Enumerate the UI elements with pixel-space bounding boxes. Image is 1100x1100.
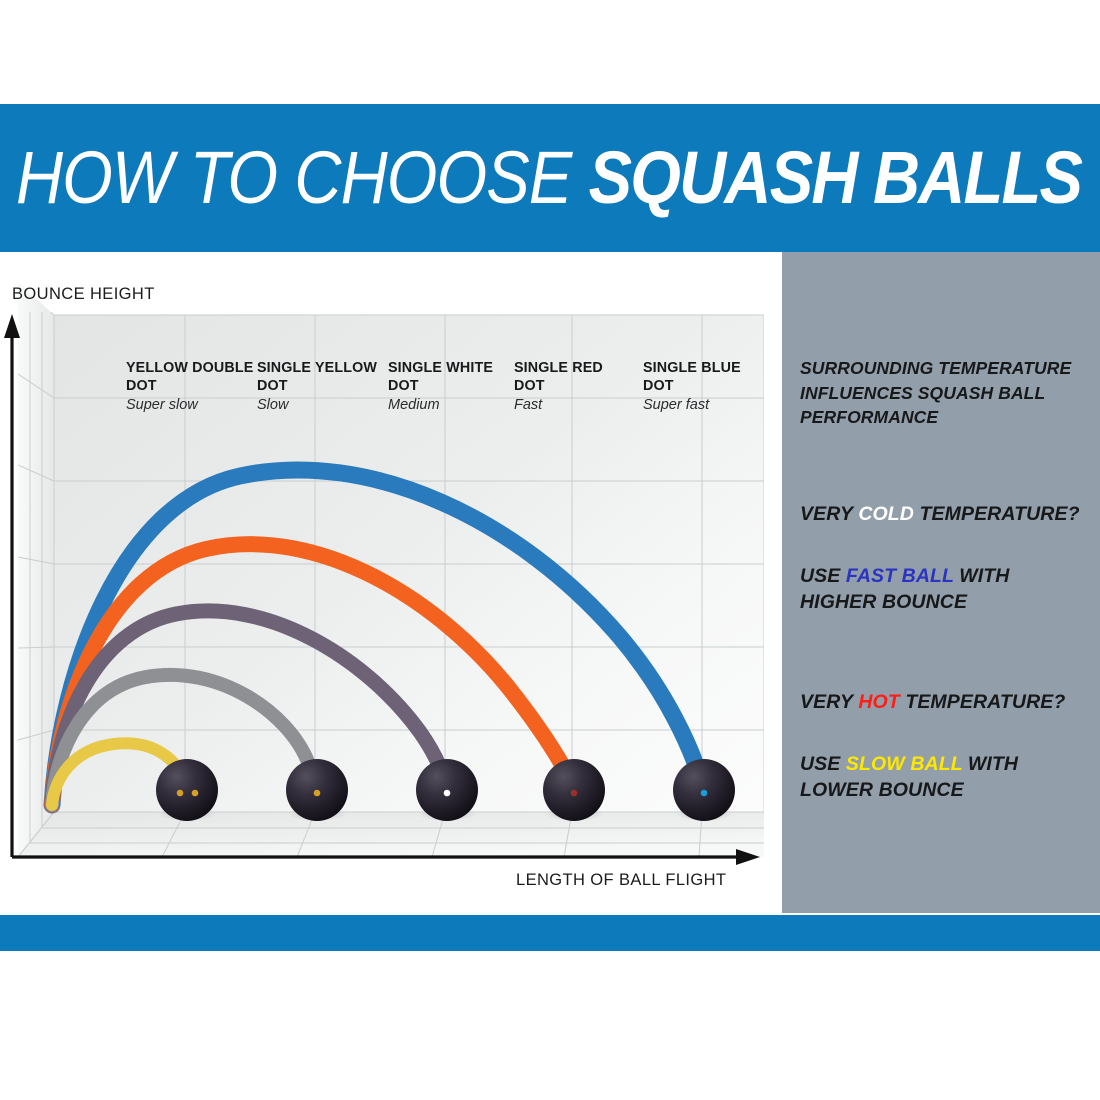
- intro-line-1: SURROUNDING TEMPERATURE: [800, 356, 1092, 381]
- side-panel: SURROUNDING TEMPERATURE INFLUENCES SQUAS…: [782, 252, 1100, 913]
- side-panel-intro: SURROUNDING TEMPERATURE INFLUENCES SQUAS…: [800, 356, 1092, 430]
- cold-a-pre: USE: [800, 565, 846, 587]
- cold-a-line2: HIGHER BOUNCE: [800, 589, 1092, 615]
- hot-q-pre: VERY: [800, 691, 858, 713]
- column-speed: Super slow: [126, 396, 254, 415]
- ball-single-white-dot: [416, 759, 478, 821]
- cold-keyword: COLD: [858, 503, 914, 525]
- column-speed: Medium: [388, 396, 516, 415]
- column-speed: Slow: [257, 396, 385, 415]
- hot-a-post: WITH: [962, 753, 1018, 775]
- x-axis-label: LENGTH OF BALL FLIGHT: [516, 871, 726, 890]
- y-axis-arrow: [4, 314, 20, 857]
- hot-q-post: TEMPERATURE?: [900, 691, 1066, 713]
- column-name-line2: DOT: [388, 378, 516, 396]
- page-title: HOW TO CHOOSE SQUASH BALLS: [16, 141, 1081, 215]
- hot-question: VERY HOT TEMPERATURE?: [800, 689, 1092, 715]
- bottom-accent-bar: [0, 915, 1100, 951]
- column-name-line1: SINGLE RED: [514, 360, 642, 378]
- intro-line-2: INFLUENCES SQUASH BALL: [800, 381, 1092, 406]
- page-title-light: HOW TO CHOOSE: [16, 136, 589, 219]
- column-header-yellow-double-dot: YELLOW DOUBLE DOT Super slow: [126, 360, 254, 415]
- chart-inner: BOUNCE HEIGHT LENGTH OF BALL FLIGHT YELL…: [0, 252, 782, 913]
- title-bar: HOW TO CHOOSE SQUASH BALLS: [0, 104, 1100, 252]
- column-name-line2: DOT: [643, 378, 771, 396]
- ball-single-red-dot: [543, 759, 605, 821]
- hot-keyword: HOT: [858, 691, 899, 713]
- ball-yellow-double-dot: [156, 759, 218, 821]
- column-speed: Fast: [514, 396, 642, 415]
- fast-ball-keyword: FAST BALL: [846, 565, 954, 587]
- hot-a-pre: USE: [800, 753, 846, 775]
- ball-single-yellow-dot: [286, 759, 348, 821]
- cold-q-post: TEMPERATURE?: [914, 503, 1080, 525]
- cold-q-pre: VERY: [800, 503, 858, 525]
- column-name-line1: SINGLE WHITE: [388, 360, 516, 378]
- cold-a-post: WITH: [954, 565, 1010, 587]
- slow-ball-keyword: SLOW BALL: [846, 753, 962, 775]
- page-title-bold: SQUASH BALLS: [589, 136, 1082, 219]
- column-header-single-red-dot: SINGLE RED DOT Fast: [514, 360, 642, 415]
- column-header-single-yellow-dot: SINGLE YELLOW DOT Slow: [257, 360, 385, 415]
- column-speed: Super fast: [643, 396, 771, 415]
- hot-answer: USE SLOW BALL WITH LOWER BOUNCE: [800, 751, 1092, 803]
- y-axis-label: BOUNCE HEIGHT: [12, 285, 155, 304]
- column-name-line2: DOT: [126, 378, 254, 396]
- cold-answer: USE FAST BALL WITH HIGHER BOUNCE: [800, 563, 1092, 615]
- bounce-trajectory-chart: [0, 252, 782, 913]
- grid-floor: [18, 812, 764, 857]
- intro-line-3: PERFORMANCE: [800, 405, 1092, 430]
- chart-panel: BOUNCE HEIGHT LENGTH OF BALL FLIGHT YELL…: [0, 252, 782, 913]
- ball-single-blue-dot: [673, 759, 735, 821]
- column-name-line1: SINGLE YELLOW: [257, 360, 385, 378]
- column-name-line2: DOT: [257, 378, 385, 396]
- column-name-line1: YELLOW DOUBLE: [126, 360, 254, 378]
- infographic-root: HOW TO CHOOSE SQUASH BALLS: [0, 0, 1100, 1100]
- column-header-single-blue-dot: SINGLE BLUE DOT Super fast: [643, 360, 771, 415]
- column-header-single-white-dot: SINGLE WHITE DOT Medium: [388, 360, 516, 415]
- column-name-line1: SINGLE BLUE: [643, 360, 771, 378]
- hot-a-line2: LOWER BOUNCE: [800, 777, 1092, 803]
- column-name-line2: DOT: [514, 378, 642, 396]
- cold-question: VERY COLD TEMPERATURE?: [800, 501, 1092, 527]
